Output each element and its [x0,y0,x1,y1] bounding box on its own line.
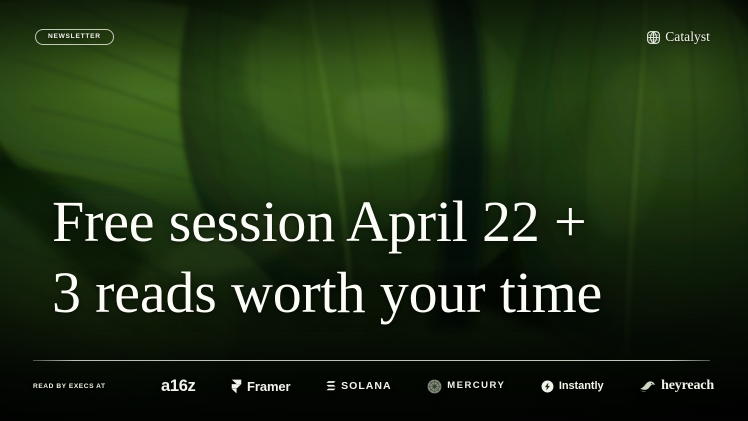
logo-solana-text: SOLANA [341,381,392,392]
logo-instantly[interactable]: Instantly [541,380,604,393]
logo-solana[interactable]: SOLANA [326,380,392,392]
logo-heyreach-text: heyreach [661,379,714,393]
brand-logo[interactable]: Catalyst [647,30,710,44]
heyreach-bird-icon [639,380,656,393]
social-proof-bar: READ BY EXECS AT a16z Framer [33,370,722,402]
newsletter-badge[interactable]: NEWSLETTER [35,29,114,45]
instantly-circle-icon [541,380,554,393]
social-proof-label: READ BY EXECS AT [33,383,161,390]
mercury-orb-icon [427,379,442,394]
framer-f-icon [231,379,242,394]
hero-headline-line-2: 3 reads worth your time [52,257,602,329]
solana-bars-icon [326,380,336,392]
logo-framer[interactable]: Framer [231,379,290,394]
logo-framer-text: Framer [247,380,290,393]
logo-heyreach[interactable]: heyreach [639,379,714,393]
logo-mercury[interactable]: MERCURY [427,379,505,394]
proof-divider [33,360,710,361]
hero-headline: Free session April 22 + 3 reads worth yo… [52,186,602,329]
globe-grid-icon [647,31,660,44]
logo-a16z-text: a16z [161,378,195,395]
logo-a16z[interactable]: a16z [161,378,195,395]
logo-list: a16z Framer [161,378,722,395]
newsletter-hero-banner: NEWSLETTER Catalyst Free session April 2… [0,0,748,421]
logo-instantly-text: Instantly [559,381,604,392]
logo-mercury-text: MERCURY [447,381,505,391]
hero-headline-line-1: Free session April 22 + [52,186,602,258]
top-bar: NEWSLETTER Catalyst [0,0,748,74]
brand-name: Catalyst [665,30,710,44]
